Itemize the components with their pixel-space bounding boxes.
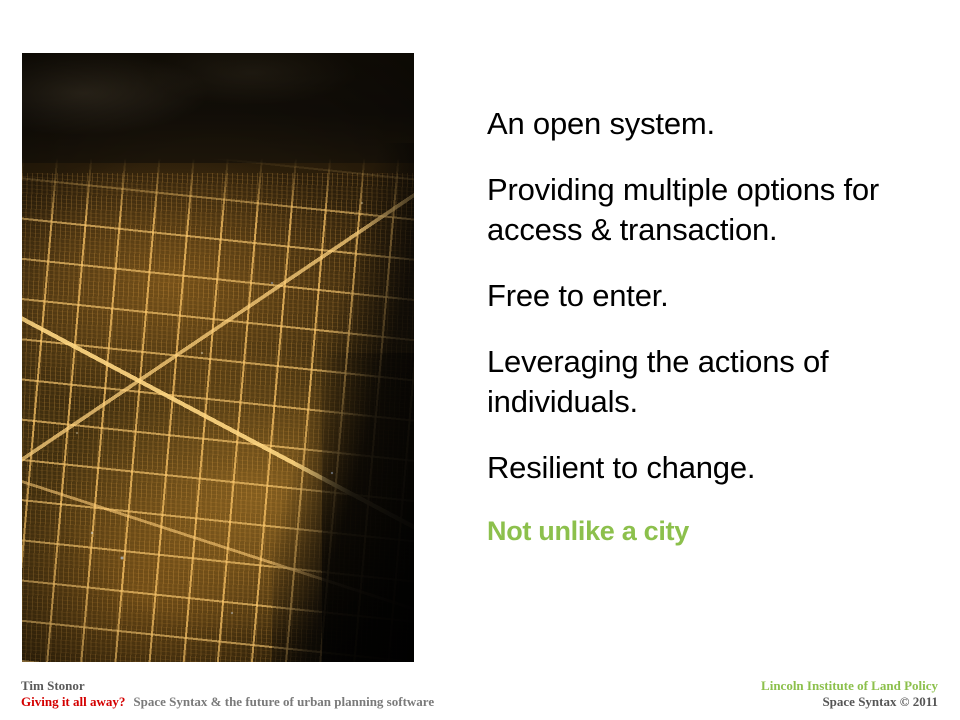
footer-talk-title: Giving it all away? [21,694,125,709]
body-line-4: Leveraging the actions of individuals. [487,342,927,422]
slide-body-text: An open system. Providing multiple optio… [487,104,927,548]
footer-left-block: Tim Stonor Giving it all away?Space Synt… [21,678,434,710]
slide-footer: Tim Stonor Giving it all away?Space Synt… [0,678,960,720]
photo-vignette-layer [22,53,414,662]
footer-host: Lincoln Institute of Land Policy [761,678,938,694]
footer-author: Tim Stonor [21,678,434,694]
body-line-6-accent: Not unlike a city [487,514,927,548]
footer-copyright: Space Syntax © 2011 [761,694,938,710]
footer-talk-row: Giving it all away?Space Syntax & the fu… [21,694,434,710]
footer-talk-subtitle: Space Syntax & the future of urban plann… [133,694,434,709]
body-line-2: Providing multiple options for access & … [487,170,927,250]
body-line-5: Resilient to change. [487,448,927,488]
aerial-night-city-photo [22,53,414,662]
body-line-1: An open system. [487,104,927,144]
footer-right-block: Lincoln Institute of Land Policy Space S… [761,678,938,710]
body-line-3: Free to enter. [487,276,927,316]
slide-canvas: An open system. Providing multiple optio… [0,0,960,720]
